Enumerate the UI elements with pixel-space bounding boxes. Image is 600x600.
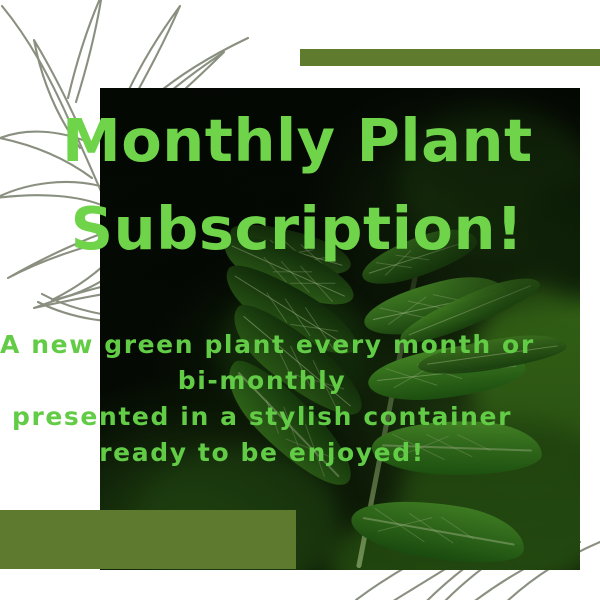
olive-accent-block-bottom (0, 510, 296, 569)
body-line-1: A new green plant every month or (0, 327, 524, 363)
body-line-2: bi-monthly (0, 363, 524, 399)
body-copy: A new green plant every month or bi-mont… (0, 327, 524, 471)
body-line-3: presented in a stylish container (0, 399, 524, 435)
poster-canvas: Monthly Plant Subscription! A new green … (0, 0, 600, 600)
olive-accent-bar-top (300, 49, 600, 66)
body-line-4: ready to be enjoyed! (0, 435, 524, 471)
title-line-1: Monthly Plant (62, 97, 532, 185)
title-line-2: Subscription! (62, 185, 532, 273)
page-title: Monthly Plant Subscription! (62, 97, 532, 273)
